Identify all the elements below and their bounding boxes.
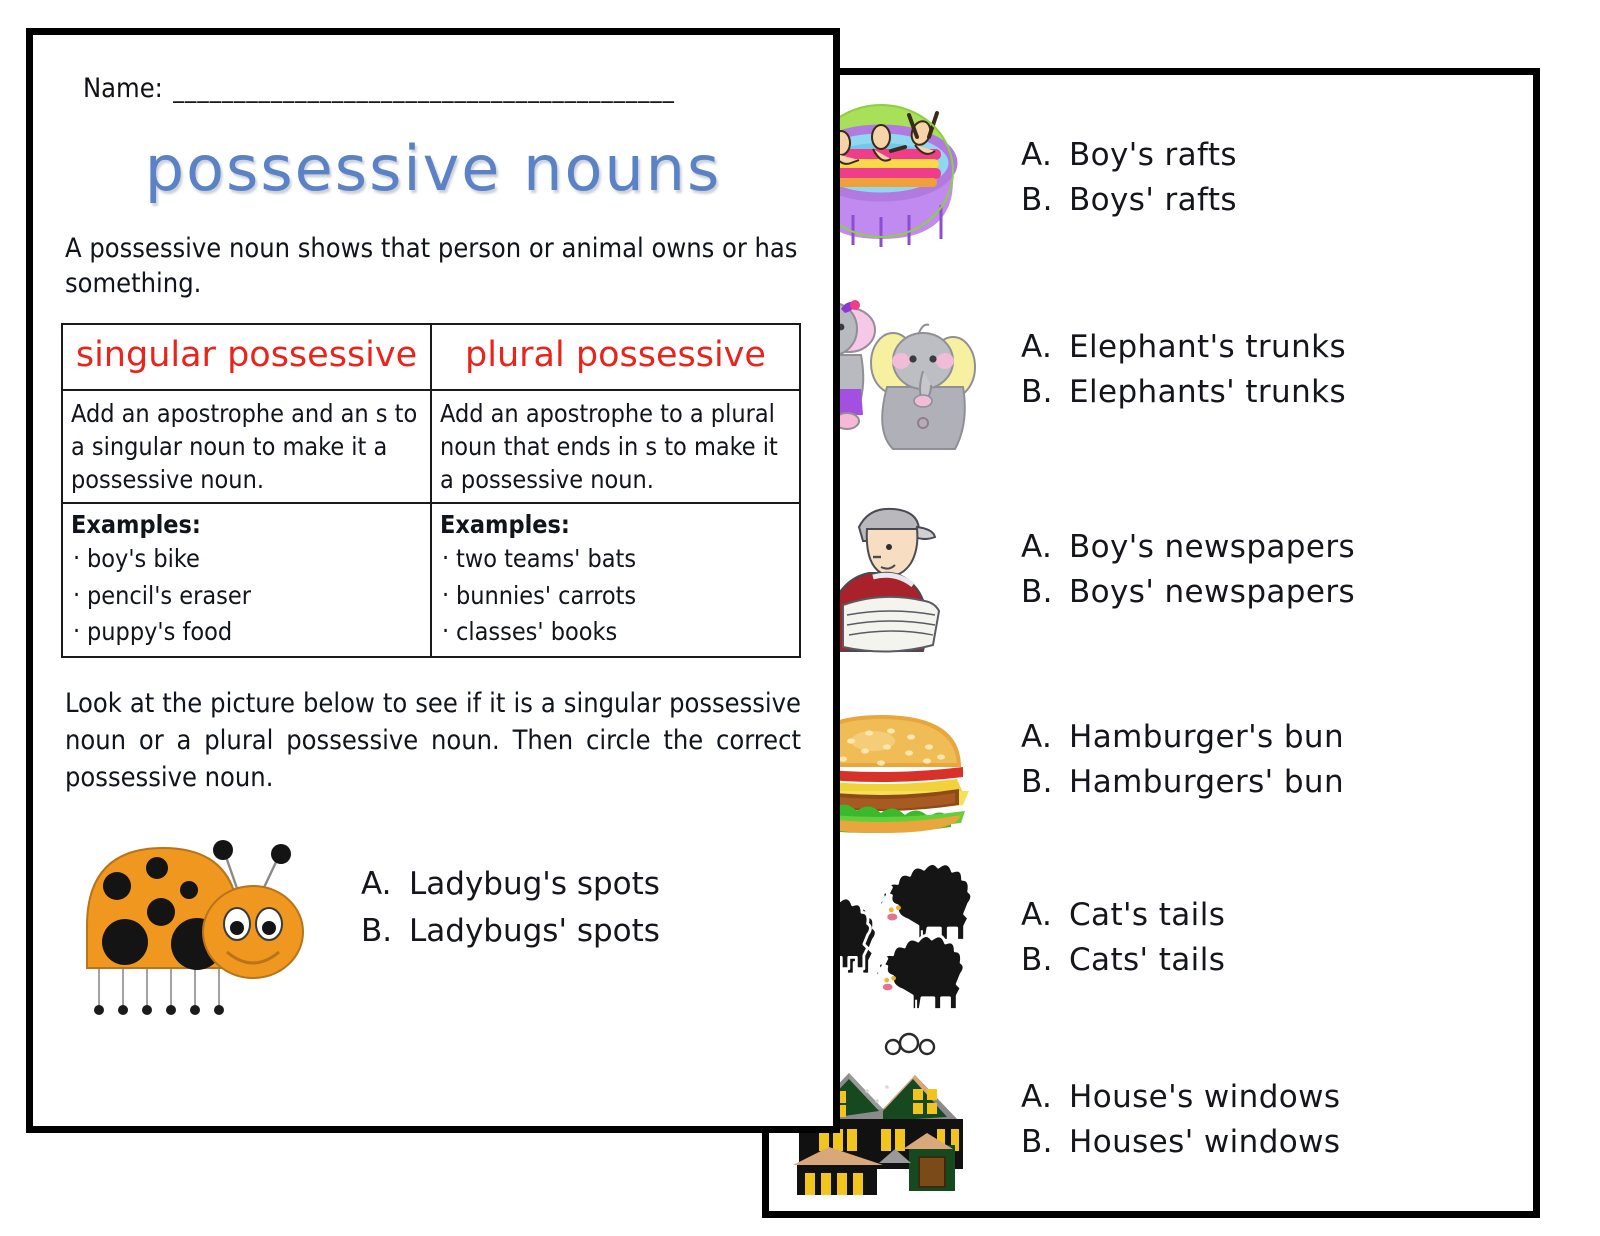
option-b[interactable]: B.Ladybugs' spots <box>361 908 660 955</box>
option-b-label: B. <box>361 908 409 955</box>
page-title: possessive nouns <box>61 132 805 205</box>
option-a-text: Cat's tails <box>1069 897 1225 933</box>
header-plural-possessive: plural possessive <box>431 324 800 390</box>
option-a-label: A. <box>1021 1075 1069 1120</box>
question-row: A.Boy's newspapers B.Boys' newspapers <box>781 485 1481 655</box>
option-a-text: Boy's rafts <box>1069 137 1237 173</box>
name-input-line[interactable]: ________________________________________… <box>173 74 733 103</box>
option-b-text: Elephants' trunks <box>1069 374 1346 410</box>
list-item: classes' books <box>440 614 791 650</box>
option-b-label: B. <box>1021 178 1069 223</box>
option-a[interactable]: A.Cat's tails <box>1021 893 1225 938</box>
option-a-label: A. <box>1021 715 1069 760</box>
option-a[interactable]: A.House's windows <box>1021 1075 1340 1120</box>
list-item: bunnies' carrots <box>440 578 791 614</box>
answer-choices: A.Boy's newspapers B.Boys' newspapers <box>1021 525 1355 615</box>
option-b-text: Hamburgers' bun <box>1069 764 1344 800</box>
option-b[interactable]: B.Boys' newspapers <box>1021 570 1355 615</box>
list-item: boy's bike <box>71 541 422 577</box>
worksheet-page: Name: __________________________________… <box>26 28 840 1133</box>
examples-list-plural: two teams' bats bunnies' carrots classes… <box>440 541 791 650</box>
option-b-label: B. <box>1021 938 1069 983</box>
name-label: Name: <box>83 73 163 104</box>
answer-choices: A.Elephant's trunks B.Elephants' trunks <box>1021 325 1346 415</box>
option-b-label: B. <box>1021 760 1069 805</box>
instructions-paragraph: Look at the picture below to see if it i… <box>65 686 801 796</box>
question-list: A.Boy's rafts B.Boys' rafts <box>769 75 1533 1211</box>
question-row: A.Cat's tails B.Cats' tails <box>781 853 1481 1023</box>
answer-choices: A.Hamburger's bun B.Hamburgers' bun <box>1021 715 1344 805</box>
sample-question-row: A.Ladybug's spots B.Ladybugs' spots <box>61 820 805 995</box>
option-a-text: Hamburger's bun <box>1069 719 1344 755</box>
option-a[interactable]: A.Ladybug's spots <box>361 861 660 908</box>
option-b-text: Boys' rafts <box>1069 182 1237 218</box>
option-a[interactable]: A.Hamburger's bun <box>1021 715 1344 760</box>
sample-answer-choices: A.Ladybug's spots B.Ladybugs' spots <box>361 861 660 954</box>
option-b[interactable]: B.Hamburgers' bun <box>1021 760 1344 805</box>
intro-paragraph: A possessive noun shows that person or a… <box>65 231 801 301</box>
rule-singular: Add an apostrophe and an s to a singular… <box>62 390 431 503</box>
answer-page: A.Boy's rafts B.Boys' rafts <box>762 68 1540 1218</box>
header-singular-possessive: singular possessive <box>62 324 431 390</box>
option-b-text: Houses' windows <box>1069 1124 1340 1160</box>
option-a-text: Ladybug's spots <box>409 866 660 902</box>
option-a-label: A. <box>1021 133 1069 178</box>
option-b-text: Boys' newspapers <box>1069 574 1355 610</box>
option-b[interactable]: B.Cats' tails <box>1021 938 1225 983</box>
question-row: A.Elephant's trunks B.Elephants' trunks <box>781 285 1481 455</box>
option-a-text: House's windows <box>1069 1079 1340 1115</box>
question-row: A.Boy's rafts B.Boys' rafts <box>781 93 1481 263</box>
question-row: A.Hamburger's bun B.Hamburgers' bun <box>781 675 1481 845</box>
option-b-label: B. <box>1021 570 1069 615</box>
answer-choices: A.House's windows B.Houses' windows <box>1021 1075 1340 1165</box>
table-header-row: singular possessive plural possessive <box>62 324 800 390</box>
name-field-row: Name: __________________________________… <box>83 73 805 104</box>
table-rule-row: Add an apostrophe and an s to a singular… <box>62 390 800 503</box>
option-b-label: B. <box>1021 1120 1069 1165</box>
question-row: A.House's windows B.Houses' windows <box>781 1035 1481 1205</box>
option-a[interactable]: A.Elephant's trunks <box>1021 325 1346 370</box>
ladybug-icon <box>61 820 321 995</box>
option-a-text: Elephant's trunks <box>1069 329 1346 365</box>
list-item: puppy's food <box>71 614 422 650</box>
answer-choices: A.Boy's rafts B.Boys' rafts <box>1021 133 1237 223</box>
examples-singular-cell: Examples: boy's bike pencil's eraser pup… <box>62 503 431 657</box>
rule-plural: Add an apostrophe to a plural noun that … <box>431 390 800 503</box>
option-b-text: Ladybugs' spots <box>409 913 660 949</box>
option-b-text: Cats' tails <box>1069 942 1225 978</box>
possessive-rules-table: singular possessive plural possessive Ad… <box>61 323 801 658</box>
examples-label-singular: Examples: <box>71 510 422 539</box>
option-a-label: A. <box>1021 893 1069 938</box>
option-a-text: Boy's newspapers <box>1069 529 1355 565</box>
option-b[interactable]: B.Boys' rafts <box>1021 178 1237 223</box>
list-item: pencil's eraser <box>71 578 422 614</box>
option-b[interactable]: B.Houses' windows <box>1021 1120 1340 1165</box>
option-a[interactable]: A.Boy's rafts <box>1021 133 1237 178</box>
option-b[interactable]: B.Elephants' trunks <box>1021 370 1346 415</box>
option-a-label: A. <box>1021 525 1069 570</box>
worksheet-screenshot: A.Boy's rafts B.Boys' rafts <box>0 0 1600 1236</box>
option-a-label: A. <box>361 861 409 908</box>
examples-label-plural: Examples: <box>440 510 791 539</box>
examples-plural-cell: Examples: two teams' bats bunnies' carro… <box>431 503 800 657</box>
option-a-label: A. <box>1021 325 1069 370</box>
table-examples-row: Examples: boy's bike pencil's eraser pup… <box>62 503 800 657</box>
option-b-label: B. <box>1021 370 1069 415</box>
answer-choices: A.Cat's tails B.Cats' tails <box>1021 893 1225 983</box>
examples-list-singular: boy's bike pencil's eraser puppy's food <box>71 541 422 650</box>
list-item: two teams' bats <box>440 541 791 577</box>
option-a[interactable]: A.Boy's newspapers <box>1021 525 1355 570</box>
